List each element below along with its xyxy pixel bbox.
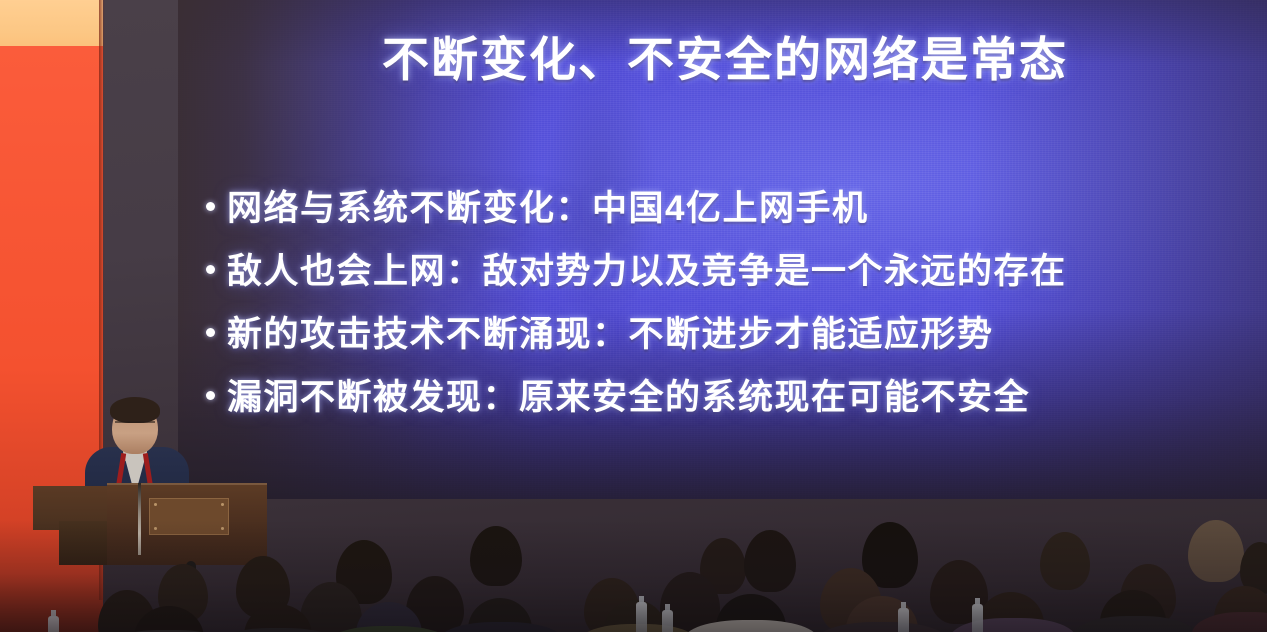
glasses-icon: [115, 421, 155, 430]
speaker-hair: [110, 397, 160, 423]
audience-shoulders: [1192, 612, 1267, 632]
slide-bullet-list: 网络与系统不断变化：中国4亿上网手机 敌人也会上网：敌对势力以及竞争是一个永远的…: [206, 174, 1267, 426]
audience-head: [470, 526, 522, 586]
list-item: 漏洞不断被发现：原来安全的系统现在可能不安全: [206, 363, 1267, 426]
audience-head: [1188, 520, 1244, 582]
audience-shoulders: [1072, 616, 1198, 632]
list-item: 网络与系统不断变化：中国4亿上网手机: [206, 174, 1267, 237]
audience-head: [1040, 532, 1090, 590]
bullet-text: 新的攻击技术不断涌现：不断进步才能适应形势: [227, 306, 994, 357]
audience-head: [744, 530, 796, 592]
projection-screen: 不断变化、不安全的网络是常态 网络与系统不断变化：中国4亿上网手机 敌人也会上网…: [178, 0, 1267, 499]
water-bottle: [972, 604, 983, 632]
bullet-text: 漏洞不断被发现：原来安全的系统现在可能不安全: [227, 369, 1030, 420]
bullet-text: 敌人也会上网：敌对势力以及竞争是一个永远的存在: [227, 243, 1067, 294]
list-item: 新的攻击技术不断涌现：不断进步才能适应形势: [206, 300, 1267, 363]
slide-content: 不断变化、不安全的网络是常态 网络与系统不断变化：中国4亿上网手机 敌人也会上网…: [178, 0, 1267, 499]
water-bottle: [898, 608, 909, 632]
audience: [0, 520, 1267, 632]
bullet-dot-icon: [206, 328, 215, 337]
bullet-text: 网络与系统不断变化：中国4亿上网手机: [227, 180, 868, 231]
bullet-dot-icon: [206, 202, 215, 211]
wall-beige-strip: [0, 0, 103, 46]
water-bottle: [662, 610, 673, 632]
conference-photo-scene: 不断变化、不安全的网络是常态 网络与系统不断变化：中国4亿上网手机 敌人也会上网…: [0, 0, 1267, 632]
bullet-dot-icon: [206, 265, 215, 274]
water-bottle: [636, 602, 647, 632]
slide-title: 不断变化、不安全的网络是常态: [178, 34, 1267, 86]
list-item: 敌人也会上网：敌对势力以及竞争是一个永远的存在: [206, 237, 1267, 300]
water-bottle: [48, 616, 59, 632]
